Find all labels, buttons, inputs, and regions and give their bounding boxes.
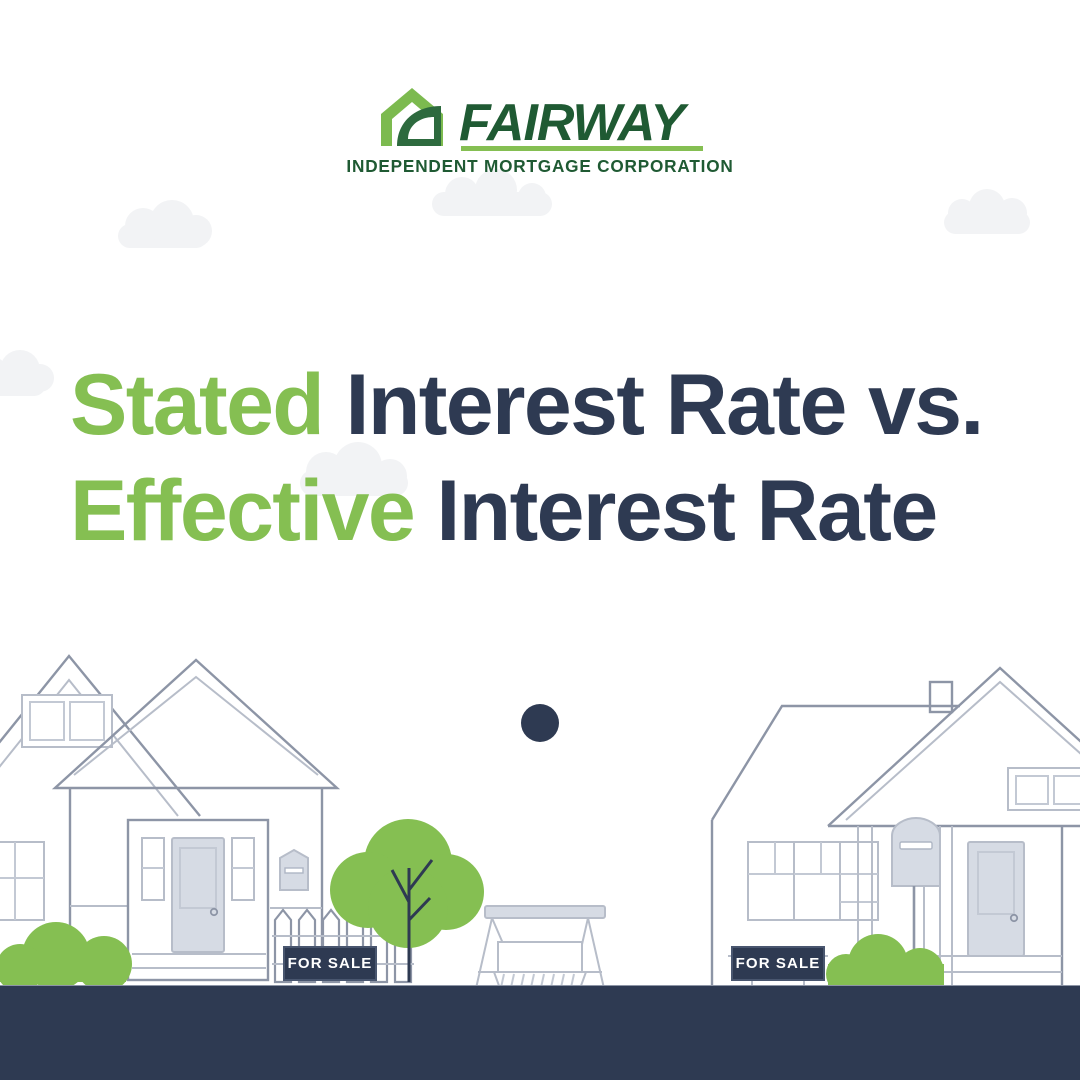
for-sale-sign-left[interactable]: FOR SALE — [283, 946, 377, 981]
page-title: Stated Interest Rate vs. Effective Inter… — [70, 352, 1030, 564]
headline-rest-2: Interest Rate — [414, 463, 936, 559]
headline-line-2: Effective Interest Rate — [70, 458, 1030, 564]
headline-rest-1: Interest Rate vs. — [323, 357, 983, 453]
center-dot — [521, 704, 559, 742]
headline-line-1: Stated Interest Rate vs. — [70, 352, 1030, 458]
for-sale-sign-right[interactable]: FOR SALE — [731, 946, 825, 981]
headline-accent-2: Effective — [70, 463, 414, 559]
wordmark-text: FAIRWAY — [459, 96, 689, 152]
cloud-top-right — [944, 189, 1030, 234]
headline-accent-1: Stated — [70, 357, 323, 453]
logo-row: FAIRWAY — [375, 84, 705, 152]
cloud-top-left — [118, 200, 212, 248]
mailbox-right — [892, 818, 940, 950]
for-sale-label: FOR SALE — [288, 956, 373, 971]
ground-band — [0, 986, 1080, 1080]
fairway-logo[interactable]: FAIRWAY INDEPENDENT MORTGAGE CORPORATION — [0, 84, 1080, 177]
fairway-wordmark: FAIRWAY — [459, 96, 705, 152]
logo-tagline: INDEPENDENT MORTGAGE CORPORATION — [346, 156, 733, 177]
bush-left — [0, 922, 132, 992]
wordmark-underline — [461, 146, 703, 151]
for-sale-label: FOR SALE — [736, 956, 821, 971]
cloud-mid-left — [0, 350, 54, 396]
house-swoosh-icon — [375, 84, 449, 152]
social-graphic-canvas: FAIRWAY INDEPENDENT MORTGAGE CORPORATION… — [0, 0, 1080, 1080]
